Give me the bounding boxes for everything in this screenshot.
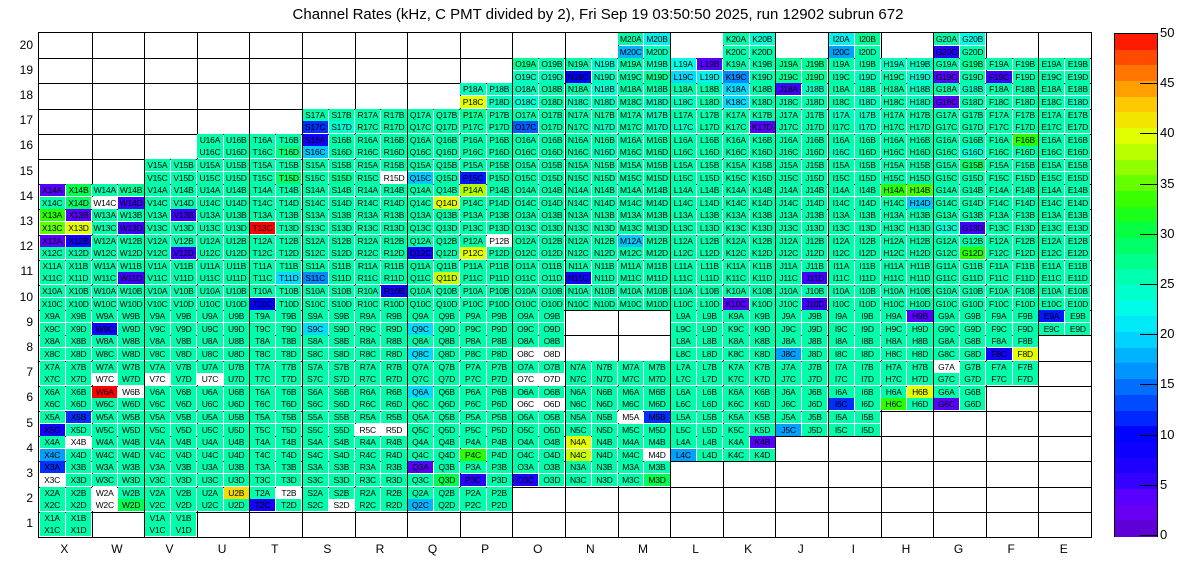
channel-cell[interactable]: O10C bbox=[513, 298, 538, 310]
channel-cell[interactable]: X1D bbox=[66, 524, 91, 536]
channel-cell[interactable]: R15C bbox=[355, 172, 380, 184]
channel-cell[interactable]: L5D bbox=[697, 424, 722, 436]
channel-cell[interactable]: H19D bbox=[907, 71, 932, 83]
channel-cell[interactable]: O17D bbox=[539, 121, 564, 133]
channel-cell[interactable]: V10B bbox=[171, 285, 196, 297]
channel-cell[interactable]: N15A bbox=[566, 159, 591, 171]
channel-cell[interactable]: E14B bbox=[1065, 184, 1090, 196]
channel-cell[interactable]: J11B bbox=[802, 260, 827, 272]
channel-cell[interactable]: G8A bbox=[934, 335, 959, 347]
channel-cell[interactable]: V14C bbox=[145, 197, 170, 209]
channel-cell[interactable]: G13C bbox=[934, 222, 959, 234]
channel-cell[interactable]: O14C bbox=[513, 197, 538, 209]
channel-cell[interactable]: P3C bbox=[460, 474, 485, 486]
channel-cell[interactable]: I8A bbox=[829, 335, 854, 347]
channel-cell[interactable]: V2C bbox=[145, 499, 170, 511]
channel-cell[interactable]: X10D bbox=[66, 298, 91, 310]
channel-cell[interactable]: Q9B bbox=[434, 310, 459, 322]
channel-cell[interactable]: J6B bbox=[802, 386, 827, 398]
channel-cell[interactable]: K19D bbox=[750, 71, 775, 83]
channel-cell[interactable]: K9C bbox=[723, 323, 748, 335]
channel-cell[interactable]: F7A bbox=[986, 361, 1011, 373]
channel-cell[interactable]: I12B bbox=[855, 235, 880, 247]
channel-cell[interactable]: K11A bbox=[723, 260, 748, 272]
channel-cell[interactable]: U2D bbox=[224, 499, 249, 511]
channel-cell[interactable]: R4C bbox=[355, 449, 380, 461]
channel-cell[interactable]: Q13D bbox=[434, 222, 459, 234]
channel-cell[interactable]: G15C bbox=[934, 172, 959, 184]
channel-cell[interactable]: N3C bbox=[566, 474, 591, 486]
channel-cell[interactable]: J19C bbox=[776, 71, 801, 83]
channel-cell[interactable]: Q10A bbox=[408, 285, 433, 297]
channel-cell[interactable]: G12D bbox=[960, 247, 985, 259]
channel-cell[interactable]: I16B bbox=[855, 134, 880, 146]
channel-cell[interactable]: U4B bbox=[224, 436, 249, 448]
channel-cell[interactable]: K16C bbox=[723, 146, 748, 158]
channel-cell[interactable]: L15B bbox=[697, 159, 722, 171]
channel-cell[interactable]: K16B bbox=[750, 134, 775, 146]
channel-cell[interactable]: K6C bbox=[723, 398, 748, 410]
channel-cell[interactable]: E19D bbox=[1065, 71, 1090, 83]
channel-cell[interactable]: E16C bbox=[1039, 146, 1064, 158]
channel-cell[interactable]: O16B bbox=[539, 134, 564, 146]
channel-cell[interactable]: H15B bbox=[907, 159, 932, 171]
channel-cell[interactable]: T6A bbox=[250, 386, 275, 398]
channel-cell[interactable]: W13B bbox=[118, 209, 143, 221]
channel-cell[interactable]: L13C bbox=[671, 222, 696, 234]
channel-cell[interactable]: N4C bbox=[566, 449, 591, 461]
channel-cell[interactable]: X6C bbox=[40, 398, 65, 410]
channel-cell[interactable]: H8B bbox=[907, 335, 932, 347]
channel-cell[interactable]: O9B bbox=[539, 310, 564, 322]
channel-cell[interactable]: T4B bbox=[276, 436, 301, 448]
channel-cell[interactable]: Q12D bbox=[434, 247, 459, 259]
channel-cell[interactable]: O12D bbox=[539, 247, 564, 259]
channel-cell[interactable]: J5B bbox=[802, 411, 827, 423]
channel-cell[interactable]: M12A bbox=[618, 235, 643, 247]
channel-cell[interactable]: T7C bbox=[250, 373, 275, 385]
channel-cell[interactable]: X12A bbox=[40, 235, 65, 247]
channel-cell[interactable]: T5D bbox=[276, 424, 301, 436]
channel-cell[interactable]: L6A bbox=[671, 386, 696, 398]
channel-cell[interactable]: V11D bbox=[171, 272, 196, 284]
channel-cell[interactable]: M19B bbox=[644, 58, 669, 70]
channel-cell[interactable]: Q5D bbox=[434, 424, 459, 436]
channel-cell[interactable]: W5A bbox=[92, 411, 117, 423]
channel-cell[interactable]: F9D bbox=[1013, 323, 1038, 335]
channel-cell[interactable]: F17B bbox=[1013, 109, 1038, 121]
channel-cell[interactable]: G10C bbox=[934, 298, 959, 310]
channel-cell[interactable]: J14A bbox=[776, 184, 801, 196]
channel-cell[interactable]: X13B bbox=[66, 209, 91, 221]
channel-cell[interactable]: V12C bbox=[145, 247, 170, 259]
channel-cell[interactable]: R9D bbox=[381, 323, 406, 335]
channel-cell[interactable]: W9A bbox=[92, 310, 117, 322]
channel-cell[interactable]: W3B bbox=[118, 461, 143, 473]
channel-cell[interactable]: H10A bbox=[881, 285, 906, 297]
channel-cell[interactable]: W13D bbox=[118, 222, 143, 234]
channel-cell[interactable]: J17A bbox=[776, 109, 801, 121]
channel-cell[interactable]: W14C bbox=[92, 197, 117, 209]
channel-cell[interactable]: E10B bbox=[1065, 285, 1090, 297]
channel-cell[interactable]: E16D bbox=[1065, 146, 1090, 158]
channel-cell[interactable]: V15B bbox=[171, 159, 196, 171]
channel-cell[interactable]: L7B bbox=[697, 361, 722, 373]
channel-cell[interactable]: R6A bbox=[355, 386, 380, 398]
channel-cell[interactable]: T5B bbox=[276, 411, 301, 423]
channel-cell[interactable]: X3B bbox=[66, 461, 91, 473]
channel-cell[interactable]: M16B bbox=[644, 134, 669, 146]
channel-cell[interactable]: F8B bbox=[1013, 335, 1038, 347]
channel-cell[interactable]: N3B bbox=[592, 461, 617, 473]
channel-cell[interactable]: H12D bbox=[907, 247, 932, 259]
channel-cell[interactable]: F16A bbox=[986, 134, 1011, 146]
channel-cell[interactable]: M19D bbox=[644, 71, 669, 83]
channel-cell[interactable]: M4A bbox=[618, 436, 643, 448]
channel-cell[interactable]: O8C bbox=[513, 348, 538, 360]
channel-cell[interactable]: E14D bbox=[1065, 197, 1090, 209]
channel-cell[interactable]: N19C bbox=[566, 71, 591, 83]
channel-cell[interactable]: K6A bbox=[723, 386, 748, 398]
channel-cell[interactable]: W10D bbox=[118, 298, 143, 310]
channel-cell[interactable]: S14A bbox=[303, 184, 328, 196]
channel-cell[interactable]: G8B bbox=[960, 335, 985, 347]
channel-cell[interactable]: L8A bbox=[671, 335, 696, 347]
channel-cell[interactable]: X2D bbox=[66, 499, 91, 511]
channel-cell[interactable]: P2C bbox=[460, 499, 485, 511]
channel-cell[interactable]: G7C bbox=[934, 373, 959, 385]
channel-cell[interactable]: S3C bbox=[303, 474, 328, 486]
channel-cell[interactable]: K18A bbox=[723, 83, 748, 95]
channel-cell[interactable]: U10A bbox=[197, 285, 222, 297]
channel-cell[interactable]: P8D bbox=[487, 348, 512, 360]
channel-cell[interactable]: T13A bbox=[250, 209, 275, 221]
channel-cell[interactable]: O6C bbox=[513, 398, 538, 410]
channel-cell[interactable]: Q5A bbox=[408, 411, 433, 423]
channel-cell[interactable]: O18D bbox=[539, 96, 564, 108]
channel-cell[interactable]: N16B bbox=[592, 134, 617, 146]
channel-cell[interactable]: U15A bbox=[197, 159, 222, 171]
channel-cell[interactable]: O16D bbox=[539, 146, 564, 158]
channel-cell[interactable]: V5D bbox=[171, 424, 196, 436]
channel-cell[interactable]: K5C bbox=[723, 424, 748, 436]
channel-cell[interactable]: U6B bbox=[224, 386, 249, 398]
channel-cell[interactable]: V10A bbox=[145, 285, 170, 297]
channel-cell[interactable]: X2C bbox=[40, 499, 65, 511]
channel-cell[interactable]: O18C bbox=[513, 96, 538, 108]
channel-cell[interactable]: R3C bbox=[355, 474, 380, 486]
channel-cell[interactable]: P11A bbox=[460, 260, 485, 272]
channel-cell[interactable]: K4D bbox=[750, 449, 775, 461]
channel-cell[interactable]: H10C bbox=[881, 298, 906, 310]
channel-cell[interactable]: E16A bbox=[1039, 134, 1064, 146]
channel-cell[interactable]: O8A bbox=[513, 335, 538, 347]
channel-cell[interactable]: T14C bbox=[250, 197, 275, 209]
channel-cell[interactable]: V15A bbox=[145, 159, 170, 171]
channel-cell[interactable]: L12D bbox=[697, 247, 722, 259]
channel-cell[interactable]: F18C bbox=[986, 96, 1011, 108]
channel-cell[interactable]: L10C bbox=[671, 298, 696, 310]
channel-cell[interactable]: X5A bbox=[40, 411, 65, 423]
channel-cell[interactable]: W2C bbox=[92, 499, 117, 511]
channel-cell[interactable]: V14D bbox=[171, 197, 196, 209]
channel-cell[interactable]: R7C bbox=[355, 373, 380, 385]
channel-cell[interactable]: H18C bbox=[881, 96, 906, 108]
channel-cell[interactable]: K16A bbox=[723, 134, 748, 146]
channel-cell[interactable]: M11A bbox=[618, 260, 643, 272]
channel-cell[interactable]: V13A bbox=[145, 209, 170, 221]
channel-cell[interactable]: M12D bbox=[644, 247, 669, 259]
channel-cell[interactable]: O17B bbox=[539, 109, 564, 121]
channel-cell[interactable]: F14D bbox=[1013, 197, 1038, 209]
channel-cell[interactable]: L15C bbox=[671, 172, 696, 184]
channel-cell[interactable]: S8A bbox=[303, 335, 328, 347]
channel-cell[interactable]: H9C bbox=[881, 323, 906, 335]
channel-cell[interactable]: U12D bbox=[224, 247, 249, 259]
channel-cell[interactable]: Q11A bbox=[408, 260, 433, 272]
channel-cell[interactable]: W6A bbox=[92, 386, 117, 398]
channel-cell[interactable]: K6B bbox=[750, 386, 775, 398]
channel-cell[interactable]: J6A bbox=[776, 386, 801, 398]
channel-cell[interactable]: U12B bbox=[224, 235, 249, 247]
channel-cell[interactable]: K7D bbox=[750, 373, 775, 385]
channel-cell[interactable]: P14B bbox=[487, 184, 512, 196]
channel-cell[interactable]: M12C bbox=[618, 247, 643, 259]
channel-cell[interactable]: M7C bbox=[618, 373, 643, 385]
channel-cell[interactable]: G9B bbox=[960, 310, 985, 322]
channel-cell[interactable]: T7A bbox=[250, 361, 275, 373]
channel-cell[interactable]: G18D bbox=[960, 96, 985, 108]
channel-cell[interactable]: T8A bbox=[250, 335, 275, 347]
channel-cell[interactable]: I11D bbox=[855, 272, 880, 284]
channel-cell[interactable]: N19A bbox=[566, 58, 591, 70]
channel-cell[interactable]: R2D bbox=[381, 499, 406, 511]
channel-cell[interactable]: I19C bbox=[829, 71, 854, 83]
channel-cell[interactable]: J16D bbox=[802, 146, 827, 158]
channel-cell[interactable]: Q5C bbox=[408, 424, 433, 436]
channel-cell[interactable]: E9A bbox=[1039, 310, 1064, 322]
channel-cell[interactable]: U6C bbox=[197, 398, 222, 410]
channel-cell[interactable]: S15C bbox=[303, 172, 328, 184]
channel-cell[interactable]: J18D bbox=[802, 96, 827, 108]
channel-cell[interactable]: L6B bbox=[697, 386, 722, 398]
channel-cell[interactable]: X1B bbox=[66, 512, 91, 524]
channel-cell[interactable]: H6B bbox=[907, 386, 932, 398]
channel-cell[interactable]: S17D bbox=[329, 121, 354, 133]
channel-cell[interactable]: P11B bbox=[487, 260, 512, 272]
channel-cell[interactable]: W4A bbox=[92, 436, 117, 448]
channel-cell[interactable]: H8A bbox=[881, 335, 906, 347]
channel-cell[interactable]: E13C bbox=[1039, 222, 1064, 234]
channel-cell[interactable]: X4B bbox=[66, 436, 91, 448]
channel-cell[interactable]: E9C bbox=[1039, 323, 1064, 335]
channel-cell[interactable]: L16A bbox=[671, 134, 696, 146]
channel-cell[interactable]: H6C bbox=[881, 398, 906, 410]
channel-cell[interactable]: K6D bbox=[750, 398, 775, 410]
channel-cell[interactable]: P12C bbox=[460, 247, 485, 259]
channel-cell[interactable]: N5D bbox=[592, 424, 617, 436]
channel-cell[interactable]: J13A bbox=[776, 209, 801, 221]
channel-cell[interactable]: O3B bbox=[539, 461, 564, 473]
channel-cell[interactable]: G7A bbox=[934, 361, 959, 373]
channel-cell[interactable]: U10B bbox=[224, 285, 249, 297]
channel-cell[interactable]: N18D bbox=[592, 96, 617, 108]
channel-cell[interactable]: U3C bbox=[197, 474, 222, 486]
channel-cell[interactable]: V5B bbox=[171, 411, 196, 423]
channel-cell[interactable]: P18D bbox=[487, 96, 512, 108]
channel-cell[interactable]: U8A bbox=[197, 335, 222, 347]
channel-cell[interactable]: G16D bbox=[960, 146, 985, 158]
channel-cell[interactable]: R7A bbox=[355, 361, 380, 373]
channel-cell[interactable]: M20C bbox=[618, 46, 643, 58]
channel-cell[interactable]: Q16C bbox=[408, 146, 433, 158]
channel-cell[interactable]: G14C bbox=[934, 197, 959, 209]
channel-cell[interactable]: O15D bbox=[539, 172, 564, 184]
channel-cell[interactable]: J9B bbox=[802, 310, 827, 322]
channel-cell[interactable]: G6A bbox=[934, 386, 959, 398]
channel-cell[interactable]: O13A bbox=[513, 209, 538, 221]
channel-cell[interactable]: P12D bbox=[487, 247, 512, 259]
channel-cell[interactable]: R16C bbox=[355, 146, 380, 158]
channel-cell[interactable]: H7A bbox=[881, 361, 906, 373]
channel-cell[interactable]: P17A bbox=[460, 109, 485, 121]
channel-cell[interactable]: T10C bbox=[250, 298, 275, 310]
channel-cell[interactable]: S6D bbox=[329, 398, 354, 410]
channel-cell[interactable]: K11B bbox=[750, 260, 775, 272]
channel-cell[interactable]: M10A bbox=[618, 285, 643, 297]
channel-cell[interactable]: L18C bbox=[671, 96, 696, 108]
channel-cell[interactable]: M15C bbox=[618, 172, 643, 184]
channel-cell[interactable]: V7A bbox=[145, 361, 170, 373]
channel-cell[interactable]: E9B bbox=[1065, 310, 1090, 322]
channel-cell[interactable]: L7A bbox=[671, 361, 696, 373]
channel-cell[interactable]: O14D bbox=[539, 197, 564, 209]
channel-cell[interactable]: R9A bbox=[355, 310, 380, 322]
channel-cell[interactable]: O10A bbox=[513, 285, 538, 297]
channel-cell[interactable]: H12C bbox=[881, 247, 906, 259]
channel-cell[interactable]: J14C bbox=[776, 197, 801, 209]
channel-cell[interactable]: U2A bbox=[197, 487, 222, 499]
channel-cell[interactable]: H13D bbox=[907, 222, 932, 234]
channel-cell[interactable]: I17C bbox=[829, 121, 854, 133]
channel-cell[interactable]: L12C bbox=[671, 247, 696, 259]
channel-cell[interactable]: T13B bbox=[276, 209, 301, 221]
channel-cell[interactable]: O3A bbox=[513, 461, 538, 473]
channel-cell[interactable]: I14D bbox=[855, 197, 880, 209]
channel-cell[interactable]: F13D bbox=[1013, 222, 1038, 234]
channel-cell[interactable]: N10D bbox=[592, 298, 617, 310]
channel-cell[interactable]: V13B bbox=[171, 209, 196, 221]
channel-cell[interactable]: L4C bbox=[671, 449, 696, 461]
channel-cell[interactable]: H12A bbox=[881, 235, 906, 247]
channel-cell[interactable]: X3C bbox=[40, 474, 65, 486]
channel-cell[interactable]: L7D bbox=[697, 373, 722, 385]
channel-cell[interactable]: L14B bbox=[697, 184, 722, 196]
channel-cell[interactable]: T5A bbox=[250, 411, 275, 423]
channel-cell[interactable]: F13A bbox=[986, 209, 1011, 221]
channel-cell[interactable]: V13D bbox=[171, 222, 196, 234]
channel-cell[interactable]: L19B bbox=[697, 58, 722, 70]
channel-cell[interactable]: P4A bbox=[460, 436, 485, 448]
channel-cell[interactable]: F17C bbox=[986, 121, 1011, 133]
channel-cell[interactable]: L17B bbox=[697, 109, 722, 121]
channel-cell[interactable]: W8A bbox=[92, 335, 117, 347]
channel-cell[interactable]: O4B bbox=[539, 436, 564, 448]
channel-cell[interactable]: V7B bbox=[171, 361, 196, 373]
channel-cell[interactable]: E19C bbox=[1039, 71, 1064, 83]
channel-cell[interactable]: Q10C bbox=[408, 298, 433, 310]
channel-cell[interactable]: I8D bbox=[855, 348, 880, 360]
channel-cell[interactable]: S5C bbox=[303, 424, 328, 436]
channel-cell[interactable]: K20D bbox=[750, 46, 775, 58]
channel-cell[interactable]: M6B bbox=[644, 386, 669, 398]
channel-cell[interactable]: O5D bbox=[539, 424, 564, 436]
channel-cell[interactable]: N6C bbox=[566, 398, 591, 410]
channel-cell[interactable]: L5A bbox=[671, 411, 696, 423]
channel-cell[interactable]: E15C bbox=[1039, 172, 1064, 184]
channel-cell[interactable]: K7B bbox=[750, 361, 775, 373]
channel-cell[interactable]: Q3A bbox=[408, 461, 433, 473]
channel-cell[interactable]: G16A bbox=[934, 134, 959, 146]
channel-cell[interactable]: K16D bbox=[750, 146, 775, 158]
channel-cell[interactable]: I18D bbox=[855, 96, 880, 108]
channel-cell[interactable]: U3A bbox=[197, 461, 222, 473]
channel-cell[interactable]: G15A bbox=[934, 159, 959, 171]
channel-cell[interactable]: F9A bbox=[986, 310, 1011, 322]
channel-cell[interactable]: V11A bbox=[145, 260, 170, 272]
channel-cell[interactable]: H6D bbox=[907, 398, 932, 410]
channel-cell[interactable]: F7D bbox=[1013, 373, 1038, 385]
channel-cell[interactable]: I6B bbox=[855, 386, 880, 398]
channel-cell[interactable]: R12B bbox=[381, 235, 406, 247]
channel-cell[interactable]: X10C bbox=[40, 298, 65, 310]
channel-cell[interactable]: U15B bbox=[224, 159, 249, 171]
channel-cell[interactable]: R9C bbox=[355, 323, 380, 335]
channel-cell[interactable]: V2B bbox=[171, 487, 196, 499]
channel-cell[interactable]: I7B bbox=[855, 361, 880, 373]
channel-cell[interactable]: V2A bbox=[145, 487, 170, 499]
channel-cell[interactable]: M11D bbox=[644, 272, 669, 284]
channel-cell[interactable]: J19B bbox=[802, 58, 827, 70]
channel-cell[interactable]: U5C bbox=[197, 424, 222, 436]
channel-cell[interactable]: S9A bbox=[303, 310, 328, 322]
channel-cell[interactable]: T4A bbox=[250, 436, 275, 448]
channel-cell[interactable]: T12B bbox=[276, 235, 301, 247]
channel-cell[interactable]: F15B bbox=[1013, 159, 1038, 171]
channel-cell[interactable]: J16C bbox=[776, 146, 801, 158]
channel-cell[interactable]: S9D bbox=[329, 323, 354, 335]
channel-cell[interactable]: R7D bbox=[381, 373, 406, 385]
channel-cell[interactable]: U15D bbox=[224, 172, 249, 184]
channel-cell[interactable]: G6C bbox=[934, 398, 959, 410]
channel-cell[interactable]: V4C bbox=[145, 449, 170, 461]
channel-cell[interactable]: J19A bbox=[776, 58, 801, 70]
channel-cell[interactable]: O5B bbox=[539, 411, 564, 423]
channel-cell[interactable]: G11D bbox=[960, 272, 985, 284]
channel-cell[interactable]: G20D bbox=[960, 46, 985, 58]
channel-cell[interactable]: N12C bbox=[566, 247, 591, 259]
channel-cell[interactable]: I5C bbox=[829, 424, 854, 436]
channel-cell[interactable]: J11A bbox=[776, 260, 801, 272]
channel-cell[interactable]: T15C bbox=[250, 172, 275, 184]
channel-cell[interactable]: L5B bbox=[697, 411, 722, 423]
channel-cell[interactable]: M3D bbox=[644, 474, 669, 486]
channel-cell[interactable]: S13B bbox=[329, 209, 354, 221]
channel-cell[interactable]: L18D bbox=[697, 96, 722, 108]
channel-cell[interactable]: T2C bbox=[250, 499, 275, 511]
channel-cell[interactable]: J16A bbox=[776, 134, 801, 146]
channel-cell[interactable]: P17C bbox=[460, 121, 485, 133]
